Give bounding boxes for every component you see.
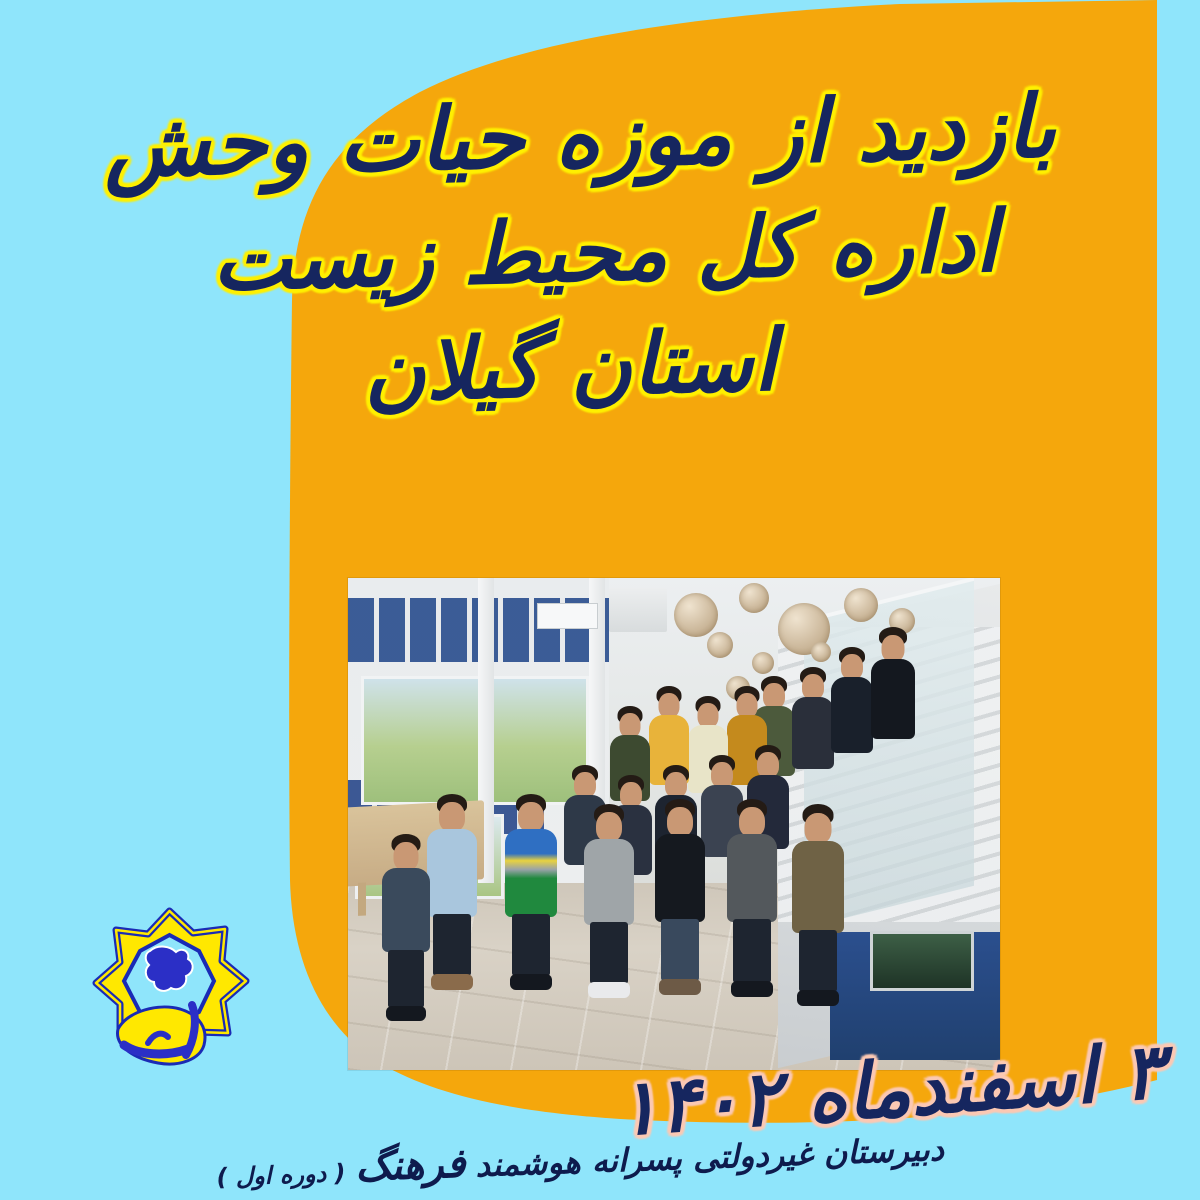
student xyxy=(654,799,706,999)
title-line-2: اداره کل محیط زیست xyxy=(0,192,1200,311)
school-name-prefix: دبیرستان غیردولتی پسرانه هوشمند xyxy=(475,1130,945,1184)
poster-title: بازدید از موزه حیات وحش اداره کل محیط زی… xyxy=(0,92,1200,411)
wall-shell-4 xyxy=(844,588,878,622)
wall-shell-7 xyxy=(752,652,774,674)
farhang-school-logo xyxy=(62,905,277,1095)
photo-window-large xyxy=(361,676,589,805)
student xyxy=(426,794,478,994)
photo-air-vent xyxy=(609,588,668,632)
title-line-1: بازدید از موزه حیات وحش xyxy=(0,80,1161,195)
wall-shell-8 xyxy=(811,642,831,662)
group-photo xyxy=(348,578,1000,1070)
student xyxy=(504,794,558,996)
title-line-3: استان گیلان xyxy=(0,306,1141,427)
poster-canvas: بازدید از موزه حیات وحش اداره کل محیط زی… xyxy=(0,0,1200,1200)
school-brand: فرهنگ xyxy=(355,1141,467,1191)
school-name: دبیرستان غیردولتی پسرانه هوشمندفرهنگ( دو… xyxy=(0,1115,1200,1200)
student xyxy=(726,799,778,1001)
student xyxy=(791,667,835,787)
wall-shell-1 xyxy=(674,593,718,637)
student xyxy=(830,647,874,773)
student xyxy=(583,804,635,1002)
wall-shell-6 xyxy=(707,632,733,658)
photo-display-screen xyxy=(870,931,974,991)
student xyxy=(791,804,845,1010)
student xyxy=(870,627,916,759)
photo-wall-plaque xyxy=(537,603,598,630)
wall-shell-2 xyxy=(739,583,769,613)
student xyxy=(381,834,431,1024)
school-stage: ( دوره اول ) xyxy=(216,1159,346,1191)
